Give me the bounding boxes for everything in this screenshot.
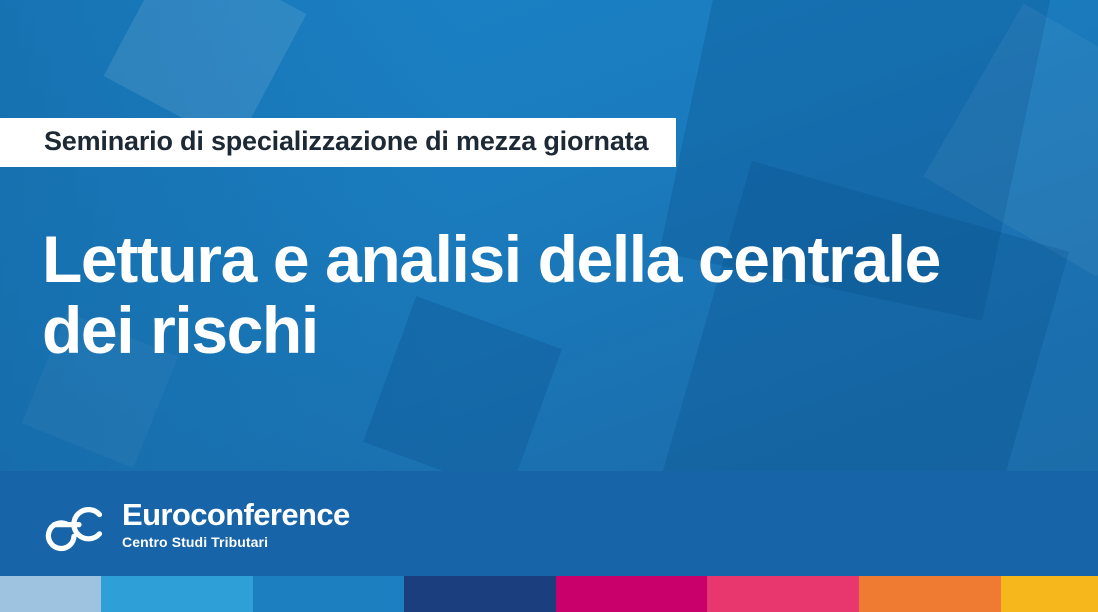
color-strip-segment-light-blue xyxy=(0,576,101,612)
seminar-banner: Seminario di specializzazione di mezza g… xyxy=(0,0,1098,612)
ec-monogram-icon xyxy=(42,496,108,552)
color-strip-segment-magenta xyxy=(556,576,708,612)
color-strip-segment-pink xyxy=(707,576,859,612)
color-strip-segment-yellow xyxy=(1001,576,1098,612)
color-strip-segment-orange xyxy=(859,576,1002,612)
color-strip-segment-mid-blue xyxy=(253,576,405,612)
seminar-title: Lettura e analisi della centrale dei ris… xyxy=(42,224,1042,365)
brand-text: Euroconference Centro Studi Tributari xyxy=(122,499,350,549)
brand-tagline: Centro Studi Tributari xyxy=(122,535,350,549)
seminar-kicker: Seminario di specializzazione di mezza g… xyxy=(0,118,676,167)
brand-footer: Euroconference Centro Studi Tributari xyxy=(0,471,1098,576)
brand-name: Euroconference xyxy=(122,499,350,530)
color-strip xyxy=(0,576,1098,612)
color-strip-segment-sky-blue xyxy=(101,576,253,612)
color-strip-segment-navy-blue xyxy=(404,576,556,612)
